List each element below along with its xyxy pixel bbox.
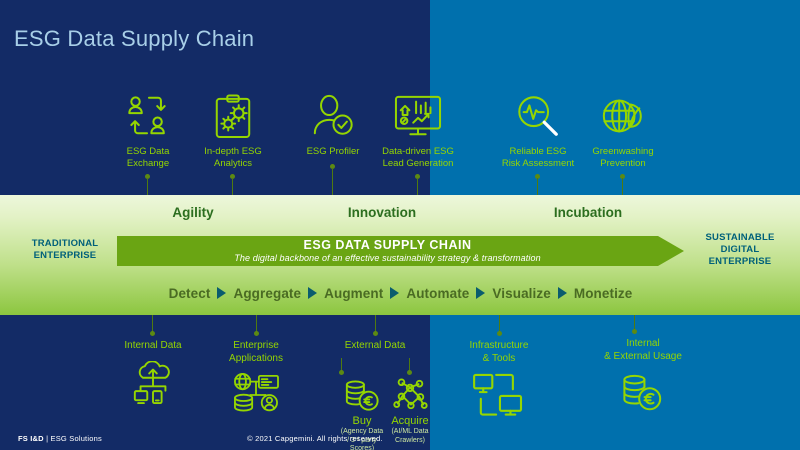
- coins-euro-icon: [620, 369, 666, 417]
- clipboard-gears-icon: [212, 90, 254, 142]
- source-label: Infrastructure& Tools: [470, 340, 529, 365]
- source-label: Internal& External Usage: [604, 338, 682, 363]
- connector-dot: [497, 331, 502, 336]
- globe-leaf-icon: [600, 90, 646, 142]
- chevron-right-icon: [217, 287, 226, 299]
- phase-label-innovation: Innovation: [302, 205, 462, 220]
- source-internal-and-external-usage[interactable]: Internal& External Usage: [568, 338, 718, 417]
- cloud-devices-icon: [130, 359, 176, 407]
- step-detect[interactable]: Detect: [169, 286, 211, 301]
- chevron-right-icon: [308, 287, 317, 299]
- monitor-dashboard-icon: [393, 90, 443, 142]
- footer-brand-bold: FS I&D: [18, 434, 44, 443]
- footer-copyright: © 2021 Capgemini. All rights reserved.: [170, 434, 460, 443]
- capability-greenwashing-prevention[interactable]: GreenwashingPrevention: [563, 90, 683, 170]
- user-check-icon: [311, 90, 355, 142]
- step-automate[interactable]: Automate: [406, 286, 469, 301]
- endpoint-sustainable-digital-enterprise: SUSTAINABLEDIGITALENTERPRISE: [688, 232, 792, 268]
- capability-data-driven-esg-lead-generation[interactable]: Data-driven ESGLead Generation: [358, 90, 478, 170]
- page-title: ESG Data Supply Chain: [14, 26, 254, 52]
- connector-dot: [150, 331, 155, 336]
- footer-brand-rest: | ESG Solutions: [46, 434, 102, 443]
- source-label: EnterpriseApplications: [229, 340, 283, 365]
- arrow-headline: ESG DATA SUPPLY CHAIN: [304, 238, 472, 252]
- endpoint-traditional-enterprise: TRADITIONALENTERPRISE: [16, 238, 114, 262]
- phase-label-incubation: Incubation: [508, 205, 668, 220]
- people-exchange-icon: [125, 90, 171, 142]
- magnifier-pulse-icon: [515, 90, 561, 142]
- phase-label-agility: Agility: [113, 205, 273, 220]
- chevron-right-icon: [390, 287, 399, 299]
- step-visualize[interactable]: Visualize: [492, 286, 550, 301]
- capability-label: ESG DataExchange: [127, 146, 170, 170]
- capability-label: ESG Profiler: [307, 146, 360, 158]
- network-database-icon: [231, 371, 281, 419]
- arrow-subline: The digital backbone of an effective sus…: [234, 253, 540, 264]
- step-aggregate[interactable]: Aggregate: [233, 286, 301, 301]
- chevron-right-icon: [558, 287, 567, 299]
- capability-label: In-depth ESGAnalytics: [204, 146, 262, 170]
- infographic-canvas: ESG Data Supply Chain ESG DataExchange: [0, 0, 800, 450]
- capability-label: Data-driven ESGLead Generation: [382, 146, 454, 170]
- source-label: External Data: [345, 340, 406, 353]
- capability-label: GreenwashingPrevention: [592, 146, 653, 170]
- connector-dot: [373, 331, 378, 336]
- source-infrastructure-and-tools[interactable]: Infrastructure& Tools: [424, 340, 574, 419]
- source-label: Internal Data: [124, 340, 181, 353]
- step-monetize[interactable]: Monetize: [574, 286, 633, 301]
- connector-dot: [632, 329, 637, 334]
- monitors-icon: [471, 371, 527, 419]
- esg-data-supply-chain-arrow: ESG DATA SUPPLY CHAIN The digital backbo…: [117, 236, 684, 266]
- chevron-right-icon: [476, 287, 485, 299]
- footer-brand: FS I&D | ESG Solutions: [18, 434, 102, 443]
- step-augment[interactable]: Augment: [324, 286, 383, 301]
- connector-stem: [332, 168, 333, 197]
- process-steps: Detect Aggregate Augment Automate Visual…: [117, 282, 684, 304]
- connector-dot: [254, 331, 259, 336]
